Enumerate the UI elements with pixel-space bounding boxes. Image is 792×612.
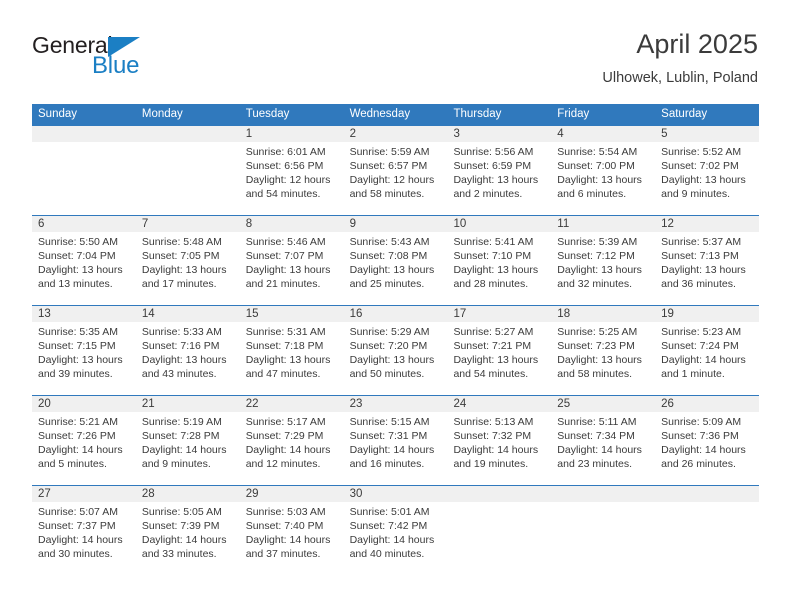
daylight-text-line1: Daylight: 13 hours xyxy=(38,353,130,367)
day-number: 13 xyxy=(38,306,130,322)
day-number: 22 xyxy=(246,396,338,412)
day-number: 19 xyxy=(661,306,753,322)
day-details: Sunrise: 5:29 AM Sunset: 7:20 PM Dayligh… xyxy=(350,325,442,381)
day-details: Sunrise: 5:27 AM Sunset: 7:21 PM Dayligh… xyxy=(453,325,545,381)
daylight-text-line1: Daylight: 12 hours xyxy=(246,173,338,187)
calendar-day-cell[interactable]: 21 Sunrise: 5:19 AM Sunset: 7:28 PM Dayl… xyxy=(136,396,240,485)
sunset-text: Sunset: 7:20 PM xyxy=(350,339,442,353)
daylight-text-line1: Daylight: 14 hours xyxy=(350,533,442,547)
daylight-text-line2: and 12 minutes. xyxy=(246,457,338,471)
day-number: 1 xyxy=(246,126,338,142)
daylight-text-line2: and 58 minutes. xyxy=(557,367,649,381)
sunset-text: Sunset: 7:16 PM xyxy=(142,339,234,353)
weekday-header-thursday: Thursday xyxy=(447,104,551,125)
day-number: 10 xyxy=(453,216,545,232)
calendar-day-cell[interactable]: 29 Sunrise: 5:03 AM Sunset: 7:40 PM Dayl… xyxy=(240,486,344,575)
sunset-text: Sunset: 7:39 PM xyxy=(142,519,234,533)
day-details: Sunrise: 5:41 AM Sunset: 7:10 PM Dayligh… xyxy=(453,235,545,291)
calendar-day-cell[interactable]: 5 Sunrise: 5:52 AM Sunset: 7:02 PM Dayli… xyxy=(655,126,759,215)
day-details: Sunrise: 5:37 AM Sunset: 7:13 PM Dayligh… xyxy=(661,235,753,291)
daylight-text-line1: Daylight: 13 hours xyxy=(38,263,130,277)
sunrise-text: Sunrise: 5:33 AM xyxy=(142,325,234,339)
daylight-text-line2: and 17 minutes. xyxy=(142,277,234,291)
day-number: 29 xyxy=(246,486,338,502)
daylight-text-line1: Daylight: 14 hours xyxy=(350,443,442,457)
sunset-text: Sunset: 7:15 PM xyxy=(38,339,130,353)
daylight-text-line2: and 21 minutes. xyxy=(246,277,338,291)
calendar-day-cell[interactable]: 3 Sunrise: 5:56 AM Sunset: 6:59 PM Dayli… xyxy=(447,126,551,215)
sunset-text: Sunset: 7:05 PM xyxy=(142,249,234,263)
calendar-week-row: 13 Sunrise: 5:35 AM Sunset: 7:15 PM Dayl… xyxy=(32,305,759,395)
sunset-text: Sunset: 6:56 PM xyxy=(246,159,338,173)
day-details: Sunrise: 5:15 AM Sunset: 7:31 PM Dayligh… xyxy=(350,415,442,471)
day-number: 17 xyxy=(453,306,545,322)
day-details: Sunrise: 5:19 AM Sunset: 7:28 PM Dayligh… xyxy=(142,415,234,471)
day-details: Sunrise: 5:01 AM Sunset: 7:42 PM Dayligh… xyxy=(350,505,442,561)
day-number: 12 xyxy=(661,216,753,232)
daylight-text-line1: Daylight: 13 hours xyxy=(453,173,545,187)
day-details: Sunrise: 5:43 AM Sunset: 7:08 PM Dayligh… xyxy=(350,235,442,291)
day-number: 24 xyxy=(453,396,545,412)
day-number: 8 xyxy=(246,216,338,232)
sunrise-text: Sunrise: 6:01 AM xyxy=(246,145,338,159)
daylight-text-line1: Daylight: 14 hours xyxy=(142,533,234,547)
daylight-text-line2: and 54 minutes. xyxy=(453,367,545,381)
weekday-header-friday: Friday xyxy=(551,104,655,125)
sunset-text: Sunset: 7:02 PM xyxy=(661,159,753,173)
calendar-day-cell[interactable]: 1 Sunrise: 6:01 AM Sunset: 6:56 PM Dayli… xyxy=(240,126,344,215)
daylight-text-line2: and 25 minutes. xyxy=(350,277,442,291)
calendar-day-cell[interactable]: 27 Sunrise: 5:07 AM Sunset: 7:37 PM Dayl… xyxy=(32,486,136,575)
day-number: 20 xyxy=(38,396,130,412)
day-number: 26 xyxy=(661,396,753,412)
sunset-text: Sunset: 7:32 PM xyxy=(453,429,545,443)
sunrise-text: Sunrise: 5:15 AM xyxy=(350,415,442,429)
day-number: 7 xyxy=(142,216,234,232)
daylight-text-line1: Daylight: 13 hours xyxy=(453,353,545,367)
daylight-text-line2: and 43 minutes. xyxy=(142,367,234,381)
sunset-text: Sunset: 7:00 PM xyxy=(557,159,649,173)
sunrise-text: Sunrise: 5:07 AM xyxy=(38,505,130,519)
daylight-text-line1: Daylight: 12 hours xyxy=(350,173,442,187)
sunset-text: Sunset: 7:36 PM xyxy=(661,429,753,443)
calendar-week-row: 27 Sunrise: 5:07 AM Sunset: 7:37 PM Dayl… xyxy=(32,485,759,575)
daylight-text-line2: and 32 minutes. xyxy=(557,277,649,291)
daylight-text-line1: Daylight: 14 hours xyxy=(661,443,753,457)
calendar-day-cell[interactable]: 20 Sunrise: 5:21 AM Sunset: 7:26 PM Dayl… xyxy=(32,396,136,485)
calendar-day-cell[interactable]: 10 Sunrise: 5:41 AM Sunset: 7:10 PM Dayl… xyxy=(447,216,551,305)
day-details: Sunrise: 5:48 AM Sunset: 7:05 PM Dayligh… xyxy=(142,235,234,291)
day-number: 5 xyxy=(661,126,753,142)
daylight-text-line2: and 36 minutes. xyxy=(661,277,753,291)
calendar-day-cell[interactable]: 11 Sunrise: 5:39 AM Sunset: 7:12 PM Dayl… xyxy=(551,216,655,305)
sunrise-text: Sunrise: 5:54 AM xyxy=(557,145,649,159)
sunrise-text: Sunrise: 5:23 AM xyxy=(661,325,753,339)
day-details: Sunrise: 5:33 AM Sunset: 7:16 PM Dayligh… xyxy=(142,325,234,381)
daylight-text-line1: Daylight: 13 hours xyxy=(453,263,545,277)
sunrise-text: Sunrise: 5:11 AM xyxy=(557,415,649,429)
calendar-day-cell[interactable]: 22 Sunrise: 5:17 AM Sunset: 7:29 PM Dayl… xyxy=(240,396,344,485)
day-number: 9 xyxy=(350,216,442,232)
calendar-day-cell[interactable] xyxy=(551,486,655,575)
day-number: 14 xyxy=(142,306,234,322)
sunset-text: Sunset: 7:21 PM xyxy=(453,339,545,353)
sunrise-text: Sunrise: 5:56 AM xyxy=(453,145,545,159)
sunset-text: Sunset: 7:18 PM xyxy=(246,339,338,353)
daylight-text-line1: Daylight: 14 hours xyxy=(557,443,649,457)
calendar-day-cell[interactable]: 9 Sunrise: 5:43 AM Sunset: 7:08 PM Dayli… xyxy=(344,216,448,305)
daylight-text-line2: and 30 minutes. xyxy=(38,547,130,561)
day-number: 11 xyxy=(557,216,649,232)
daylight-text-line2: and 19 minutes. xyxy=(453,457,545,471)
sunrise-text: Sunrise: 5:13 AM xyxy=(453,415,545,429)
calendar-day-cell[interactable]: 30 Sunrise: 5:01 AM Sunset: 7:42 PM Dayl… xyxy=(344,486,448,575)
daylight-text-line2: and 13 minutes. xyxy=(38,277,130,291)
sunset-text: Sunset: 7:04 PM xyxy=(38,249,130,263)
daylight-text-line2: and 5 minutes. xyxy=(38,457,130,471)
daylight-text-line1: Daylight: 13 hours xyxy=(350,353,442,367)
daylight-text-line1: Daylight: 14 hours xyxy=(246,533,338,547)
sunset-text: Sunset: 7:26 PM xyxy=(38,429,130,443)
day-details: Sunrise: 5:03 AM Sunset: 7:40 PM Dayligh… xyxy=(246,505,338,561)
daylight-text-line2: and 37 minutes. xyxy=(246,547,338,561)
day-number: 25 xyxy=(557,396,649,412)
day-details: Sunrise: 5:50 AM Sunset: 7:04 PM Dayligh… xyxy=(38,235,130,291)
sunrise-text: Sunrise: 5:59 AM xyxy=(350,145,442,159)
daylight-text-line2: and 39 minutes. xyxy=(38,367,130,381)
day-number: 2 xyxy=(350,126,442,142)
calendar-page: General Blue April 2025 Ulhowek, Lublin,… xyxy=(0,0,792,612)
day-details: Sunrise: 5:46 AM Sunset: 7:07 PM Dayligh… xyxy=(246,235,338,291)
daylight-text-line2: and 2 minutes. xyxy=(453,187,545,201)
daylight-text-line1: Daylight: 13 hours xyxy=(350,263,442,277)
calendar-day-cell[interactable] xyxy=(655,486,759,575)
sunset-text: Sunset: 7:29 PM xyxy=(246,429,338,443)
day-details: Sunrise: 5:39 AM Sunset: 7:12 PM Dayligh… xyxy=(557,235,649,291)
day-details: Sunrise: 5:56 AM Sunset: 6:59 PM Dayligh… xyxy=(453,145,545,201)
daylight-text-line1: Daylight: 14 hours xyxy=(661,353,753,367)
sunrise-text: Sunrise: 5:46 AM xyxy=(246,235,338,249)
daylight-text-line1: Daylight: 14 hours xyxy=(453,443,545,457)
daylight-text-line1: Daylight: 13 hours xyxy=(246,263,338,277)
day-number: 16 xyxy=(350,306,442,322)
calendar-day-cell[interactable]: 16 Sunrise: 5:29 AM Sunset: 7:20 PM Dayl… xyxy=(344,306,448,395)
sunrise-text: Sunrise: 5:05 AM xyxy=(142,505,234,519)
sunset-text: Sunset: 7:10 PM xyxy=(453,249,545,263)
daylight-text-line1: Daylight: 14 hours xyxy=(38,533,130,547)
daylight-text-line1: Daylight: 13 hours xyxy=(142,353,234,367)
weekday-header-monday: Monday xyxy=(136,104,240,125)
sunrise-text: Sunrise: 5:43 AM xyxy=(350,235,442,249)
calendar-day-cell[interactable]: 14 Sunrise: 5:33 AM Sunset: 7:16 PM Dayl… xyxy=(136,306,240,395)
calendar-week-row: 6 Sunrise: 5:50 AM Sunset: 7:04 PM Dayli… xyxy=(32,215,759,305)
calendar-day-cell[interactable]: 26 Sunrise: 5:09 AM Sunset: 7:36 PM Dayl… xyxy=(655,396,759,485)
page-subtitle: Ulhowek, Lublin, Poland xyxy=(602,68,758,88)
day-details: Sunrise: 5:35 AM Sunset: 7:15 PM Dayligh… xyxy=(38,325,130,381)
sunset-text: Sunset: 7:24 PM xyxy=(661,339,753,353)
daylight-text-line2: and 33 minutes. xyxy=(142,547,234,561)
daylight-text-line2: and 26 minutes. xyxy=(661,457,753,471)
sunset-text: Sunset: 7:40 PM xyxy=(246,519,338,533)
daylight-text-line1: Daylight: 13 hours xyxy=(557,353,649,367)
day-number: 28 xyxy=(142,486,234,502)
day-number: 18 xyxy=(557,306,649,322)
day-details: Sunrise: 5:54 AM Sunset: 7:00 PM Dayligh… xyxy=(557,145,649,201)
day-details: Sunrise: 5:11 AM Sunset: 7:34 PM Dayligh… xyxy=(557,415,649,471)
sunrise-text: Sunrise: 5:35 AM xyxy=(38,325,130,339)
calendar-day-cell[interactable]: 8 Sunrise: 5:46 AM Sunset: 7:07 PM Dayli… xyxy=(240,216,344,305)
calendar-day-cell[interactable] xyxy=(136,126,240,215)
sunrise-text: Sunrise: 5:09 AM xyxy=(661,415,753,429)
calendar-grid: Sunday Monday Tuesday Wednesday Thursday… xyxy=(32,104,759,575)
day-number: 30 xyxy=(350,486,442,502)
day-number: 23 xyxy=(350,396,442,412)
sunset-text: Sunset: 7:08 PM xyxy=(350,249,442,263)
sunset-text: Sunset: 6:57 PM xyxy=(350,159,442,173)
daylight-text-line1: Daylight: 13 hours xyxy=(246,353,338,367)
daylight-text-line1: Daylight: 14 hours xyxy=(142,443,234,457)
day-details: Sunrise: 5:52 AM Sunset: 7:02 PM Dayligh… xyxy=(661,145,753,201)
sunrise-text: Sunrise: 5:25 AM xyxy=(557,325,649,339)
sunrise-text: Sunrise: 5:19 AM xyxy=(142,415,234,429)
calendar-day-cell[interactable]: 13 Sunrise: 5:35 AM Sunset: 7:15 PM Dayl… xyxy=(32,306,136,395)
day-number: 21 xyxy=(142,396,234,412)
calendar-day-cell[interactable] xyxy=(447,486,551,575)
daylight-text-line2: and 6 minutes. xyxy=(557,187,649,201)
day-number: 6 xyxy=(38,216,130,232)
sunrise-text: Sunrise: 5:17 AM xyxy=(246,415,338,429)
sunrise-text: Sunrise: 5:50 AM xyxy=(38,235,130,249)
day-details: Sunrise: 5:07 AM Sunset: 7:37 PM Dayligh… xyxy=(38,505,130,561)
daylight-text-line1: Daylight: 13 hours xyxy=(557,263,649,277)
sunrise-text: Sunrise: 5:27 AM xyxy=(453,325,545,339)
daylight-text-line2: and 47 minutes. xyxy=(246,367,338,381)
weekday-header-saturday: Saturday xyxy=(655,104,759,125)
sunrise-text: Sunrise: 5:41 AM xyxy=(453,235,545,249)
sunset-text: Sunset: 7:31 PM xyxy=(350,429,442,443)
daylight-text-line2: and 1 minute. xyxy=(661,367,753,381)
day-details: Sunrise: 5:09 AM Sunset: 7:36 PM Dayligh… xyxy=(661,415,753,471)
sunset-text: Sunset: 7:42 PM xyxy=(350,519,442,533)
day-number: 27 xyxy=(38,486,130,502)
calendar-week-row: 20 Sunrise: 5:21 AM Sunset: 7:26 PM Dayl… xyxy=(32,395,759,485)
day-details: Sunrise: 5:59 AM Sunset: 6:57 PM Dayligh… xyxy=(350,145,442,201)
day-details: Sunrise: 6:01 AM Sunset: 6:56 PM Dayligh… xyxy=(246,145,338,201)
calendar-day-cell[interactable]: 19 Sunrise: 5:23 AM Sunset: 7:24 PM Dayl… xyxy=(655,306,759,395)
weekday-header-row: Sunday Monday Tuesday Wednesday Thursday… xyxy=(32,104,759,125)
logo-text-blue: Blue xyxy=(92,52,139,80)
page-header: General Blue April 2025 Ulhowek, Lublin,… xyxy=(32,28,758,100)
sunrise-text: Sunrise: 5:03 AM xyxy=(246,505,338,519)
calendar-day-cell[interactable]: 12 Sunrise: 5:37 AM Sunset: 7:13 PM Dayl… xyxy=(655,216,759,305)
daylight-text-line1: Daylight: 13 hours xyxy=(661,173,753,187)
sunset-text: Sunset: 6:59 PM xyxy=(453,159,545,173)
day-details: Sunrise: 5:25 AM Sunset: 7:23 PM Dayligh… xyxy=(557,325,649,381)
calendar-day-cell[interactable]: 18 Sunrise: 5:25 AM Sunset: 7:23 PM Dayl… xyxy=(551,306,655,395)
calendar-day-cell[interactable]: 28 Sunrise: 5:05 AM Sunset: 7:39 PM Dayl… xyxy=(136,486,240,575)
day-details: Sunrise: 5:31 AM Sunset: 7:18 PM Dayligh… xyxy=(246,325,338,381)
sunrise-text: Sunrise: 5:48 AM xyxy=(142,235,234,249)
day-details: Sunrise: 5:13 AM Sunset: 7:32 PM Dayligh… xyxy=(453,415,545,471)
sunrise-text: Sunrise: 5:31 AM xyxy=(246,325,338,339)
daylight-text-line1: Daylight: 13 hours xyxy=(142,263,234,277)
day-details: Sunrise: 5:05 AM Sunset: 7:39 PM Dayligh… xyxy=(142,505,234,561)
daylight-text-line2: and 50 minutes. xyxy=(350,367,442,381)
day-details: Sunrise: 5:23 AM Sunset: 7:24 PM Dayligh… xyxy=(661,325,753,381)
sunset-text: Sunset: 7:37 PM xyxy=(38,519,130,533)
calendar-day-cell[interactable]: 2 Sunrise: 5:59 AM Sunset: 6:57 PM Dayli… xyxy=(344,126,448,215)
sunset-text: Sunset: 7:12 PM xyxy=(557,249,649,263)
daylight-text-line2: and 9 minutes. xyxy=(661,187,753,201)
daylight-text-line1: Daylight: 14 hours xyxy=(38,443,130,457)
sunrise-text: Sunrise: 5:01 AM xyxy=(350,505,442,519)
sunset-text: Sunset: 7:34 PM xyxy=(557,429,649,443)
daylight-text-line1: Daylight: 14 hours xyxy=(246,443,338,457)
sunrise-text: Sunrise: 5:52 AM xyxy=(661,145,753,159)
weekday-header-tuesday: Tuesday xyxy=(240,104,344,125)
calendar-day-cell[interactable]: 7 Sunrise: 5:48 AM Sunset: 7:05 PM Dayli… xyxy=(136,216,240,305)
calendar-day-cell[interactable]: 24 Sunrise: 5:13 AM Sunset: 7:32 PM Dayl… xyxy=(447,396,551,485)
calendar-week-row: 1 Sunrise: 6:01 AM Sunset: 6:56 PM Dayli… xyxy=(32,125,759,215)
general-blue-logo[interactable]: General Blue xyxy=(32,32,232,88)
sunset-text: Sunset: 7:07 PM xyxy=(246,249,338,263)
day-number: 15 xyxy=(246,306,338,322)
daylight-text-line2: and 40 minutes. xyxy=(350,547,442,561)
calendar-day-cell[interactable]: 4 Sunrise: 5:54 AM Sunset: 7:00 PM Dayli… xyxy=(551,126,655,215)
sunset-text: Sunset: 7:28 PM xyxy=(142,429,234,443)
calendar-day-cell[interactable]: 17 Sunrise: 5:27 AM Sunset: 7:21 PM Dayl… xyxy=(447,306,551,395)
page-title: April 2025 xyxy=(602,28,758,60)
sunrise-text: Sunrise: 5:39 AM xyxy=(557,235,649,249)
daylight-text-line2: and 28 minutes. xyxy=(453,277,545,291)
sunrise-text: Sunrise: 5:29 AM xyxy=(350,325,442,339)
sunset-text: Sunset: 7:23 PM xyxy=(557,339,649,353)
daylight-text-line2: and 9 minutes. xyxy=(142,457,234,471)
calendar-day-cell[interactable]: 25 Sunrise: 5:11 AM Sunset: 7:34 PM Dayl… xyxy=(551,396,655,485)
sunset-text: Sunset: 7:13 PM xyxy=(661,249,753,263)
daylight-text-line2: and 16 minutes. xyxy=(350,457,442,471)
sunrise-text: Sunrise: 5:21 AM xyxy=(38,415,130,429)
day-details: Sunrise: 5:17 AM Sunset: 7:29 PM Dayligh… xyxy=(246,415,338,471)
daylight-text-line2: and 23 minutes. xyxy=(557,457,649,471)
calendar-day-cell[interactable] xyxy=(32,126,136,215)
daylight-text-line2: and 58 minutes. xyxy=(350,187,442,201)
day-details: Sunrise: 5:21 AM Sunset: 7:26 PM Dayligh… xyxy=(38,415,130,471)
daylight-text-line1: Daylight: 13 hours xyxy=(661,263,753,277)
daylight-text-line1: Daylight: 13 hours xyxy=(557,173,649,187)
calendar-day-cell[interactable]: 6 Sunrise: 5:50 AM Sunset: 7:04 PM Dayli… xyxy=(32,216,136,305)
weekday-header-sunday: Sunday xyxy=(32,104,136,125)
weekday-header-wednesday: Wednesday xyxy=(344,104,448,125)
calendar-day-cell[interactable]: 23 Sunrise: 5:15 AM Sunset: 7:31 PM Dayl… xyxy=(344,396,448,485)
day-number: 3 xyxy=(453,126,545,142)
day-number: 4 xyxy=(557,126,649,142)
calendar-day-cell[interactable]: 15 Sunrise: 5:31 AM Sunset: 7:18 PM Dayl… xyxy=(240,306,344,395)
title-block: April 2025 Ulhowek, Lublin, Poland xyxy=(602,28,758,88)
sunrise-text: Sunrise: 5:37 AM xyxy=(661,235,753,249)
daylight-text-line2: and 54 minutes. xyxy=(246,187,338,201)
